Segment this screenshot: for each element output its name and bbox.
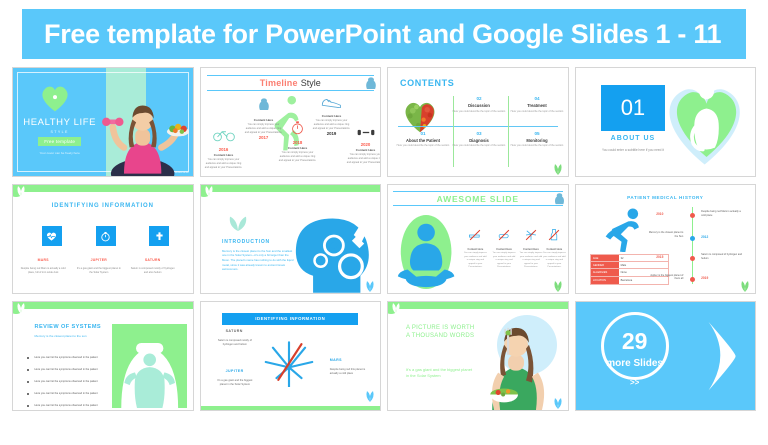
leaf-icon	[738, 279, 752, 292]
slide-title: REVIEW OF SYSTEMS	[35, 324, 101, 330]
timeline-body: You can simply impress your audience and…	[347, 153, 382, 165]
item-caption: Content Here	[542, 248, 566, 251]
bullet-marker	[27, 369, 29, 371]
timeline-dot	[690, 213, 695, 218]
timeline-year: 2016	[205, 147, 243, 152]
top-bar	[13, 302, 193, 309]
cannabis-leaf-icon	[262, 337, 316, 387]
leaf-icon	[388, 302, 404, 318]
timeline-caption: Content Here	[245, 118, 283, 122]
timeline-body: You can simply impress your audience and…	[245, 123, 283, 135]
awesome-header: AWESOME SLIDE	[393, 191, 563, 206]
timeline-text: Saturn is composed of hydrogen and heliu…	[701, 253, 745, 261]
slide-title: AWESOME SLIDE	[437, 194, 519, 204]
vegetable-heart-photo	[400, 98, 440, 134]
slide-note: Your cover can be freely here	[18, 151, 101, 156]
contents-number: 04	[510, 96, 564, 101]
timeline-item: 2016 Content Here You can simply impress…	[205, 128, 243, 170]
timeline-year: 2019	[313, 131, 351, 136]
item-label: JUPITER	[76, 258, 122, 262]
contents-desc: Here you could describe the topic of the…	[510, 110, 564, 114]
divider-horizontal	[398, 126, 558, 127]
icon-tile	[149, 226, 169, 246]
timeline-caption: Content Here	[205, 153, 243, 157]
kettlebell-icon	[257, 97, 271, 112]
item-body: Despite being red Mars is actually a col…	[20, 267, 66, 275]
timeline-text: Jupiter is the biggest planet of them al…	[647, 274, 683, 282]
slide-thumbnail-awesome[interactable]: AWESOME SLIDE Content Here You can simp	[387, 184, 569, 294]
slide-title: HEALTHY LIFE	[18, 117, 101, 128]
stopwatch-icon	[100, 231, 111, 242]
awesome-item: Content Here You can simply impress your…	[492, 228, 516, 270]
timeline-year: 2015	[656, 255, 663, 259]
awesome-item: Content Here You can simply impress your…	[519, 228, 543, 270]
contents-item: 02 Discussion Here you could describe th…	[452, 96, 506, 113]
no-drugs-icon	[524, 228, 538, 242]
table-key: AGE	[591, 255, 619, 261]
heart-icon	[38, 83, 72, 113]
bicycle-icon	[213, 128, 235, 142]
item-body: You can simply impress your audience and…	[463, 252, 487, 270]
label-mars-body: Despite being red this planet is actuall…	[330, 368, 370, 376]
slide-thumbnail-review-of-systems[interactable]: REVIEW OF SYSTEMS Mercury is the closest…	[12, 301, 194, 411]
timeline-year: 2020	[347, 142, 382, 147]
heart-pulse-icon	[46, 231, 57, 242]
bullet-text: Here you can list the symptoms observed …	[35, 404, 118, 408]
runner-icon	[593, 207, 658, 252]
table-value: Male	[619, 262, 668, 268]
item-caption: Content Here	[519, 248, 543, 251]
contents-desc: Here you could describe the topic of the…	[396, 144, 450, 148]
meditation-figure-icon	[392, 209, 460, 291]
fitness-woman-photo	[96, 74, 189, 176]
table-row: GENDER Male	[591, 262, 668, 269]
bullet-text: Here you can list the symptoms observed …	[35, 392, 118, 396]
timeline-caption: Content Here	[347, 148, 382, 152]
no-pills-icon	[497, 228, 511, 242]
slide-thumbnail-medical-history[interactable]: PATIENT MEDICAL HISTORY AGE 32 GENDER Ma…	[575, 184, 757, 294]
timeline-axis	[692, 207, 693, 285]
template-gallery-page: Free template for PowerPoint and Google …	[0, 9, 768, 445]
timeline-caption: Content Here	[313, 114, 351, 118]
timeline-item: 2018 Content Here You can simply impress…	[279, 120, 317, 163]
slide-title: INTRODUCTION	[222, 239, 270, 245]
timeline-year: 2018	[279, 140, 317, 145]
slide-title: PATIENT MEDICAL HISTORY	[576, 195, 756, 200]
item-caption: Content Here	[492, 248, 516, 251]
muscle-figure-panel	[112, 324, 187, 408]
chevron-double-right-icon: >>	[601, 378, 669, 387]
table-key: ALLERGIES	[591, 269, 619, 275]
more-slides-cta[interactable]: 29 more Slides >>	[575, 301, 757, 411]
contents-name: About the Patient	[396, 138, 450, 143]
dumbbell-icon	[355, 128, 377, 137]
slide-thumbnail-identifying-information[interactable]: IDENTIFYING INFORMATION MARS	[12, 184, 194, 294]
slide-title: IDENTIFYING INFORMATION	[13, 203, 193, 209]
slide-subtitle: Mercury is the closest planet to the sun	[35, 334, 100, 339]
top-bar	[388, 302, 568, 309]
item-body: You can simply impress your audience and…	[519, 252, 543, 270]
leaf-icon	[363, 279, 377, 292]
contents-desc: Here you could describe the topic of the…	[452, 110, 506, 114]
leaf-icon	[551, 162, 565, 175]
timeline-title-part1: Timeline	[260, 78, 298, 88]
item-body: You can simply impress your audience and…	[492, 252, 516, 270]
page-header-banner: Free template for PowerPoint and Google …	[22, 9, 746, 59]
muscle-figure-icon	[112, 324, 187, 408]
contents-title: CONTENTS	[400, 78, 454, 88]
timeline-item: Content Here You can simply impress your…	[245, 97, 283, 140]
slide-thumbnail-healthy-life[interactable]: HEALTHY LIFE STYLE Free template Your co…	[12, 67, 194, 177]
page-title: Free template for PowerPoint and Google …	[22, 19, 721, 50]
table-key: GENDER	[591, 262, 619, 268]
arrow-right-icon	[705, 313, 741, 399]
slide-thumbnail-identifying-leaf[interactable]: IDENTIFYING INFORMATION SATURN Saturn is…	[200, 301, 382, 411]
item-body: It's a gas giant and the biggest planet …	[76, 267, 122, 275]
slide-count: 29	[601, 328, 669, 355]
timeline-text: Mercury is the closest planet to the Sun	[647, 231, 683, 239]
icon-tile	[96, 226, 116, 246]
contents-number: 05	[510, 131, 564, 136]
contents-number: 03	[452, 131, 506, 136]
bullet-marker	[27, 393, 29, 395]
heart-person-icon	[658, 74, 751, 169]
item-label: SATURN	[130, 258, 176, 262]
contents-desc: Here you could describe the topic of the…	[452, 144, 506, 148]
kettlebell-icon	[553, 192, 566, 206]
item-body: You can simply impress your audience and…	[542, 252, 566, 270]
timeline-body: You can simply impress your audience and…	[313, 119, 351, 131]
top-bar	[201, 185, 381, 192]
label-jupiter: JUPITER	[226, 369, 244, 373]
leaf-icon	[551, 279, 565, 292]
timeline-body: You can simply impress your audience and…	[205, 158, 243, 170]
label-saturn: SATURN	[226, 329, 243, 333]
timeline-year: 2010	[656, 212, 663, 216]
bullet-text: Here you can list the symptoms observed …	[35, 356, 118, 360]
contents-item: 04 Treatment Here you could describe the…	[510, 96, 564, 113]
item-caption: Content Here	[463, 248, 487, 251]
kettlebell-icon	[364, 76, 378, 91]
leaf-icon	[13, 302, 29, 318]
slide-thumbnail-introduction[interactable]: INTRODUCTION Mercury is the closest plan…	[200, 184, 382, 294]
timeline-header: Timeline Style	[207, 75, 375, 91]
awesome-item: Content Here You can simply impress your…	[542, 228, 566, 270]
slide-subtitle: STYLE	[18, 130, 101, 134]
leaf-icon	[363, 389, 377, 402]
top-bar	[13, 185, 193, 192]
bullet-text: Here you can list the symptoms observed …	[35, 380, 118, 384]
no-smoking-icon	[468, 228, 482, 242]
item-label: MARS	[20, 258, 66, 262]
slide-thumbnail-picture-worth[interactable]: A PICTURE IS WORTH A THOUSAND WORDS It's…	[387, 301, 569, 411]
timeline-text: Despite being red Mars is actually a col…	[701, 210, 745, 218]
contents-number: 01	[396, 131, 450, 136]
contents-name: Treatment	[510, 103, 564, 108]
timeline-dot	[690, 277, 695, 282]
timeline-dot	[690, 236, 695, 241]
bullet-text: Here you can list the symptoms observed …	[35, 368, 118, 372]
leaf-icon	[201, 185, 217, 201]
slide-thumbnail-about-us[interactable]: 01 ABOUT US You could enter a subtitle h…	[575, 67, 757, 177]
contents-name: Diagnosis	[452, 138, 506, 143]
medical-icon	[154, 231, 165, 242]
contents-item: 05 Monitoring Here you could describe th…	[510, 131, 564, 148]
stopwatch-icon	[291, 120, 304, 135]
leaf-decoration-icon	[226, 214, 250, 232]
table-key: LOCATION	[591, 277, 619, 284]
timeline-item: Content Here You can simply impress your…	[313, 95, 351, 136]
item-body: Saturn is composed mostly of hydrogen an…	[130, 267, 176, 275]
bullet-marker	[27, 405, 29, 407]
timeline-year: 2017	[245, 135, 283, 140]
slides-grid: HEALTHY LIFE STYLE Free template Your co…	[6, 67, 762, 417]
contents-desc: Here you could describe the topic of the…	[510, 144, 564, 148]
contents-item: 01 About the Patient Here you could desc…	[396, 131, 450, 148]
free-template-badge: Free template	[38, 137, 81, 146]
timeline-title-part2: Style	[301, 78, 321, 88]
slide-thumbnail-contents[interactable]: CONTENTS 01 About the Patient Here you c…	[387, 67, 569, 177]
contents-name: Monitoring	[510, 138, 564, 143]
contents-name: Discussion	[452, 103, 506, 108]
section-number: 01	[601, 85, 666, 130]
label-mars: MARS	[330, 358, 342, 362]
contents-item: 03 Diagnosis Here you could describe the…	[452, 131, 506, 148]
awesome-item: Content Here You can simply impress your…	[463, 228, 487, 270]
timeline-item: 2020 Content Here You can simply impress…	[347, 124, 382, 165]
sneaker-icon	[321, 96, 343, 108]
slide-thumbnail-timeline[interactable]: Timeline Style 2016 Content Here You can	[200, 67, 382, 177]
timeline-caption: Content Here	[279, 146, 317, 150]
no-alcohol-icon	[547, 228, 561, 242]
leaf-icon	[551, 396, 565, 409]
contents-number: 02	[452, 96, 506, 101]
label-jupiter-body: It's a gas giant and the biggest planet …	[215, 379, 255, 387]
timeline-body: You can simply impress your audience and…	[279, 151, 317, 163]
bullet-marker	[27, 381, 29, 383]
bottom-bar	[201, 402, 381, 410]
slide-title: IDENTIFYING INFORMATION	[222, 313, 358, 325]
icon-tile	[42, 226, 62, 246]
more-slides-label: more Slides	[601, 358, 669, 369]
timeline-year: 2012	[701, 235, 708, 239]
label-saturn-body: Saturn is composed mostly of hydrogen an…	[215, 339, 255, 347]
bullet-marker	[27, 357, 29, 359]
timeline-year: 2019	[701, 276, 708, 280]
leaf-icon	[13, 185, 29, 201]
timeline-dot	[690, 256, 695, 261]
